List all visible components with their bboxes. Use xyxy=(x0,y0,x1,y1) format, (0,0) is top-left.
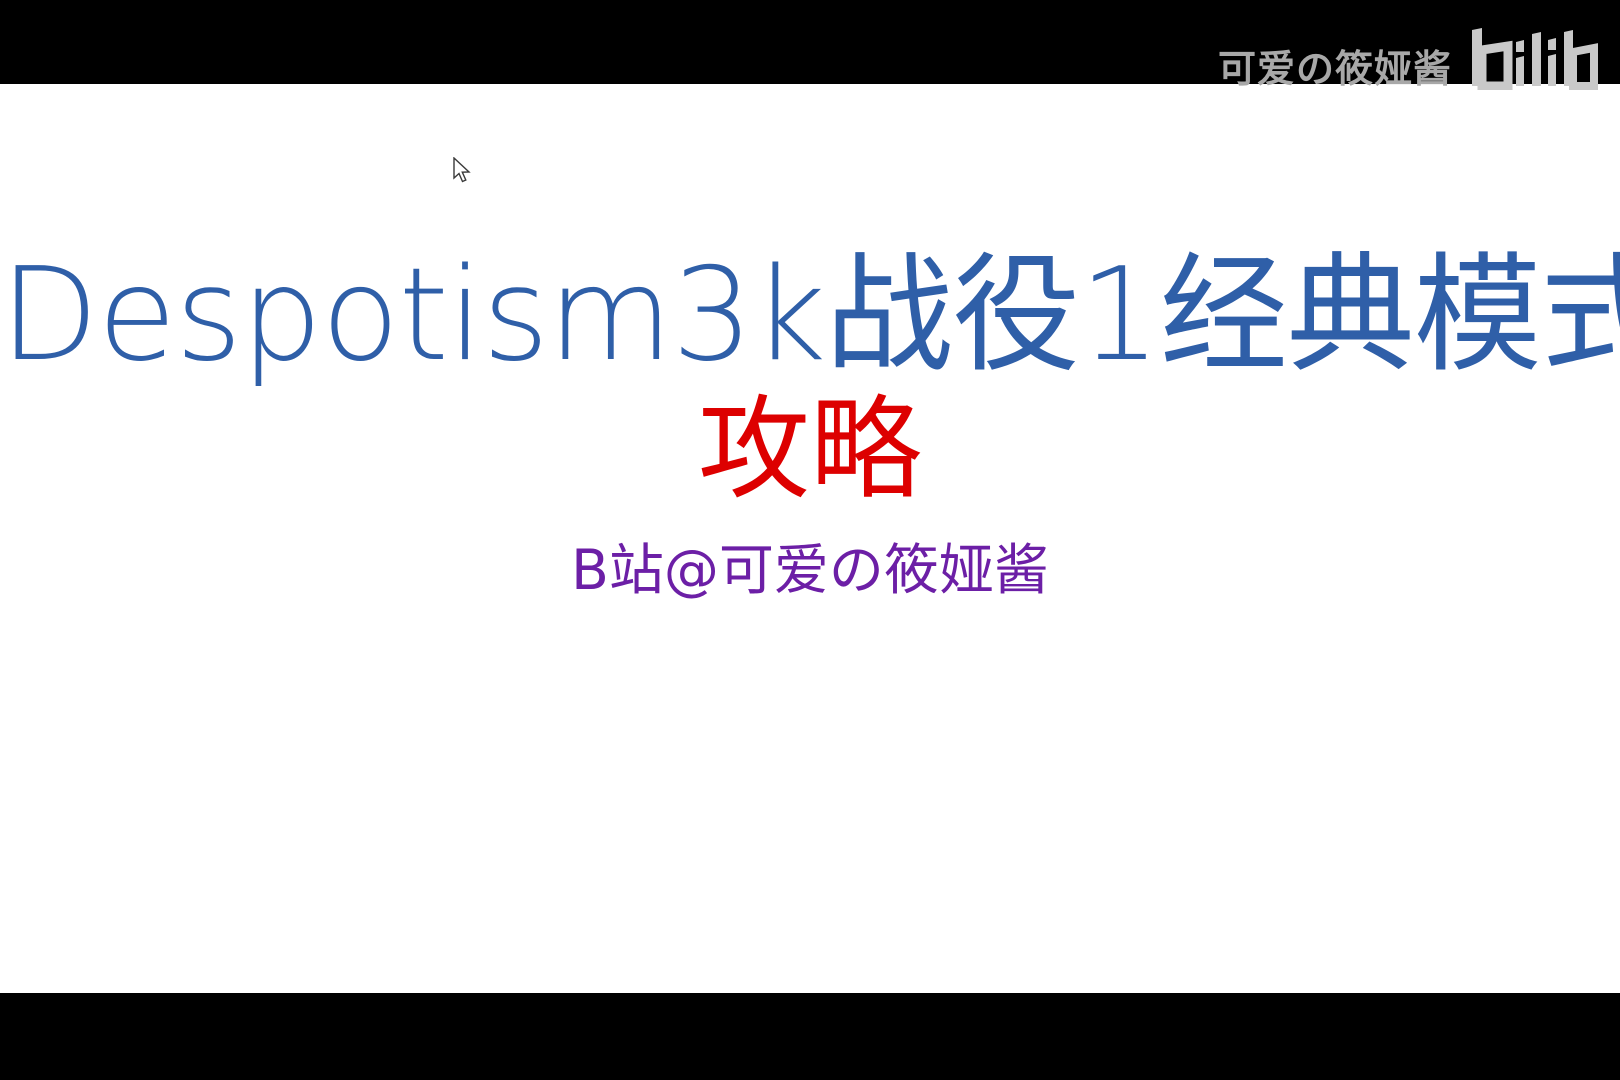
letterbox-bar-top xyxy=(0,0,1620,84)
subtitle-highlight: 攻略 xyxy=(0,394,1620,506)
title-block: Despotism3k战役1经典模式 攻略 B站@可爱の筱娅酱 xyxy=(0,84,1620,993)
video-frame: Despotism3k战役1经典模式 攻略 B站@可爱の筱娅酱 可爱の筱娅酱 xyxy=(0,0,1620,1080)
page-title: Despotism3k战役1经典模式 xyxy=(0,252,1620,380)
presentation-slide: Despotism3k战役1经典模式 攻略 B站@可爱の筱娅酱 xyxy=(0,84,1620,993)
author-byline: B站@可爱の筱娅酱 xyxy=(0,543,1620,598)
letterbox-bar-bottom xyxy=(0,993,1620,1080)
